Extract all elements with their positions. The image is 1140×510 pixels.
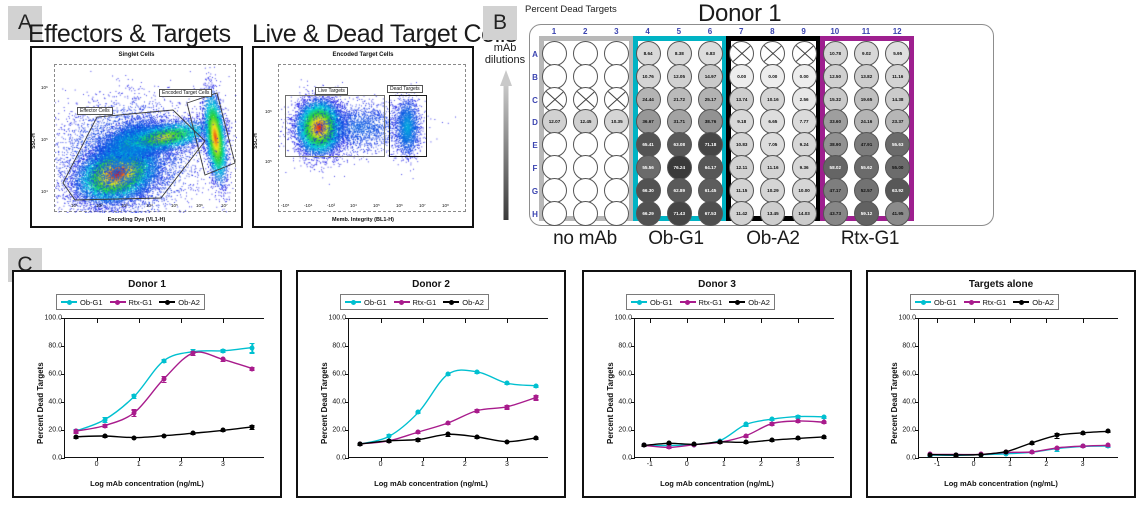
flow-right-xtick: -10⁵ bbox=[281, 203, 289, 208]
chart-ytick-label: 80.0 bbox=[332, 343, 346, 350]
chart-ytick-label: 80.0 bbox=[48, 343, 62, 350]
chart-data-point-ob-a2[interactable] bbox=[927, 452, 932, 457]
legend-swatch bbox=[345, 301, 361, 303]
chart-data-point-ob-g1[interactable] bbox=[445, 372, 450, 377]
gate-label-dead-targets: Dead Targets bbox=[387, 85, 423, 93]
plate-well-H9[interactable]: 14.03 bbox=[792, 201, 817, 226]
plate-well-B1[interactable] bbox=[542, 64, 567, 89]
chart-data-point-rtx-g1[interactable] bbox=[445, 421, 450, 426]
legend-label: Ob-G1 bbox=[934, 298, 957, 307]
chart-data-point-rtx-g1[interactable] bbox=[1106, 443, 1111, 448]
legend-item-ob-a2[interactable]: Ob-A2 bbox=[1013, 298, 1054, 307]
chart-ylabel: Percent Dead Targets bbox=[320, 362, 329, 444]
plate-well-A5[interactable]: 8.38 bbox=[667, 41, 692, 66]
plate-well-A7[interactable] bbox=[729, 41, 754, 66]
plate-well-C7[interactable]: 13.74 bbox=[729, 87, 754, 112]
chart-data-point-rtx-g1[interactable] bbox=[132, 410, 137, 415]
chart-ytick-mark bbox=[345, 374, 349, 375]
plate-well-H6[interactable]: 67.53 bbox=[698, 201, 723, 226]
plate-well-C1[interactable] bbox=[542, 87, 567, 112]
chart-error-cap bbox=[161, 382, 166, 383]
plate-col-header-7: 7 bbox=[732, 27, 750, 36]
plate-well-G10[interactable]: 47.17 bbox=[823, 178, 848, 203]
plate-well-G11[interactable]: 52.57 bbox=[854, 178, 879, 203]
chart-data-point-ob-a2[interactable] bbox=[161, 433, 166, 438]
chart-xtick-mark bbox=[97, 457, 98, 461]
plate-well-B7[interactable]: 0.00 bbox=[729, 64, 754, 89]
chart-ytick-mark bbox=[345, 346, 349, 347]
chart-xtick-label: 1 bbox=[722, 461, 726, 468]
plate-well-B9[interactable]: 0.00 bbox=[792, 64, 817, 89]
chart-xtick-label: 1 bbox=[1008, 461, 1012, 468]
flow-plot-left-xlabel: Encoding Dye (VL1-H) bbox=[32, 217, 241, 223]
chart-xtick-mark bbox=[974, 457, 975, 461]
plate-well-H5[interactable]: 71.43 bbox=[667, 201, 692, 226]
plate-well-F10[interactable]: 58.02 bbox=[823, 155, 848, 180]
chart-data-point-ob-a2[interactable] bbox=[504, 439, 509, 444]
legend-label: Ob-G1 bbox=[80, 298, 103, 307]
flow-left-xtick: 10⁵ bbox=[171, 203, 178, 208]
chart-data-point-ob-a2[interactable] bbox=[795, 436, 800, 441]
chart-xtick-mark bbox=[381, 457, 382, 461]
chart-data-point-ob-a2[interactable] bbox=[132, 435, 137, 440]
plate-well-B12[interactable]: 11.16 bbox=[885, 64, 910, 89]
chart-xtick-label: 0 bbox=[95, 461, 99, 468]
chart-data-point-ob-g1[interactable] bbox=[504, 381, 509, 386]
chart-top-rule bbox=[635, 318, 834, 319]
flow-right-xtick: 10⁶ bbox=[396, 203, 403, 208]
chart-legend: Ob-G1Rtx-G1Ob-A2 bbox=[910, 294, 1059, 310]
chart-plot-area: 0.020.040.060.080.0100.0-10123 bbox=[918, 318, 1118, 458]
chart-donor-2: Donor 2Ob-G1Rtx-G1Ob-A2Percent Dead Targ… bbox=[296, 270, 566, 498]
plate-well-H4[interactable]: 66.29 bbox=[636, 201, 661, 226]
chart-data-point-ob-a2[interactable] bbox=[667, 441, 672, 446]
legend-swatch bbox=[915, 301, 931, 303]
plate-well-F11[interactable]: 55.62 bbox=[854, 155, 879, 180]
flow-plot-right-ylabel: SSC-H bbox=[253, 133, 259, 149]
flow-right-ytick: 10⁶ bbox=[265, 109, 272, 114]
chart-ytick-label: 80.0 bbox=[618, 343, 632, 350]
chart-data-point-ob-a2[interactable] bbox=[445, 432, 450, 437]
plate-well-G2[interactable] bbox=[573, 178, 598, 203]
chart-xtick-mark bbox=[724, 457, 725, 461]
plate-well-A8[interactable] bbox=[760, 41, 785, 66]
legend-swatch bbox=[964, 301, 980, 303]
plate-well-H7[interactable]: 11.42 bbox=[729, 201, 754, 226]
legend-label: Rtx-G1 bbox=[983, 298, 1007, 307]
chart-error-cap bbox=[250, 343, 255, 344]
plate-well-G7[interactable]: 11.15 bbox=[729, 178, 754, 203]
plate-col-header-1: 1 bbox=[545, 27, 563, 36]
chart-data-point-ob-a2[interactable] bbox=[744, 440, 749, 445]
chart-ytick-mark bbox=[631, 374, 635, 375]
chart-ytick-label: 60.0 bbox=[332, 371, 346, 378]
chart-title: Donor 2 bbox=[298, 279, 564, 290]
plate-well-H10[interactable]: 43.73 bbox=[823, 201, 848, 226]
chart-ylabel: Percent Dead Targets bbox=[890, 362, 899, 444]
flow-left-xtick: 10¹ bbox=[71, 203, 78, 208]
plate-col-header-11: 11 bbox=[857, 27, 875, 36]
plate-well-G9[interactable]: 10.00 bbox=[792, 178, 817, 203]
chart-ytick-mark bbox=[61, 458, 65, 459]
chart-xtick-mark bbox=[937, 457, 938, 461]
chart-data-point-rtx-g1[interactable] bbox=[744, 433, 749, 438]
plate-well-G4[interactable]: 66.30 bbox=[636, 178, 661, 203]
legend-item-rtx-g1[interactable]: Rtx-G1 bbox=[964, 298, 1007, 307]
legend-label: Ob-G1 bbox=[364, 298, 387, 307]
chart-ytick-label: 40.0 bbox=[902, 399, 916, 406]
chart-ytick-label: 100.0 bbox=[614, 315, 632, 322]
mab-dilutions-label: mAb dilutions bbox=[478, 42, 532, 66]
plate-group-label-no-mab: no mAb bbox=[535, 228, 635, 250]
chart-xlabel: Log mAb concentration (ng/mL) bbox=[584, 479, 850, 488]
chart-xtick-label: 2 bbox=[1044, 461, 1048, 468]
flow-plot-left-ylabel: SSC-H bbox=[31, 133, 37, 149]
chart-ytick-label: 60.0 bbox=[618, 371, 632, 378]
flow-right-xtick: 10⁸ bbox=[442, 203, 449, 208]
chart-ytick-label: 40.0 bbox=[48, 399, 62, 406]
plate-well-A9[interactable] bbox=[792, 41, 817, 66]
chart-data-point-rtx-g1[interactable] bbox=[534, 395, 539, 400]
plate-well-B4[interactable]: 10.76 bbox=[636, 64, 661, 89]
chart-xtick-label: 2 bbox=[463, 461, 467, 468]
plate-well-H2[interactable] bbox=[573, 201, 598, 226]
plate-well-F1[interactable] bbox=[542, 155, 567, 180]
chart-data-point-ob-a2[interactable] bbox=[250, 424, 255, 429]
gate-label-effector-cells: Effector Cells bbox=[77, 107, 113, 115]
chart-xtick-label: 1 bbox=[137, 461, 141, 468]
chart-ytick-mark bbox=[631, 402, 635, 403]
chart-data-point-ob-g1[interactable] bbox=[475, 369, 480, 374]
chart-error-cap bbox=[132, 416, 137, 417]
chart-xtick-mark bbox=[687, 457, 688, 461]
plate-col-header-4: 4 bbox=[639, 27, 657, 36]
chart-data-point-ob-g1[interactable] bbox=[220, 348, 225, 353]
chart-ytick-label: 100.0 bbox=[328, 315, 346, 322]
plate-well-A6[interactable]: 6.83 bbox=[698, 41, 723, 66]
flow-left-xtick: 10³ bbox=[121, 203, 128, 208]
chart-data-point-ob-a2[interactable] bbox=[1029, 440, 1034, 445]
plate-group-label-rtx-g1: Rtx-G1 bbox=[820, 228, 920, 250]
plate-group-label-ob-a2: Ob-A2 bbox=[723, 228, 823, 250]
panel-b-letter: B bbox=[483, 6, 517, 40]
chart-xtick-label: 0 bbox=[685, 461, 689, 468]
plate-well-H3[interactable] bbox=[604, 201, 629, 226]
chart-data-point-ob-a2[interactable] bbox=[74, 434, 79, 439]
gate-box-live-targets bbox=[285, 95, 385, 157]
flow-left-xtick: 10⁷ bbox=[221, 203, 228, 208]
chart-ytick-mark bbox=[915, 458, 919, 459]
chart-ytick-label: 40.0 bbox=[332, 399, 346, 406]
chart-legend: Ob-G1Rtx-G1Ob-A2 bbox=[56, 294, 205, 310]
legend-swatch bbox=[110, 301, 126, 303]
chart-plot-area: 0.020.040.060.080.0100.0-10123 bbox=[634, 318, 834, 458]
legend-item-ob-g1[interactable]: Ob-G1 bbox=[915, 298, 957, 307]
plate-well-C3[interactable] bbox=[604, 87, 629, 112]
plate-well-B2[interactable] bbox=[573, 64, 598, 89]
legend-item-ob-g1[interactable]: Ob-G1 bbox=[631, 298, 673, 307]
chart-ytick-label: 100.0 bbox=[898, 315, 916, 322]
chart-data-point-rtx-g1[interactable] bbox=[770, 421, 775, 426]
legend-item-ob-a2[interactable]: Ob-A2 bbox=[729, 298, 770, 307]
plate-well-E5[interactable]: 63.08 bbox=[667, 132, 692, 157]
chart-xtick-label: 0 bbox=[379, 461, 383, 468]
plate-well-H12[interactable]: 41.95 bbox=[885, 201, 910, 226]
chart-data-point-ob-g1[interactable] bbox=[534, 383, 539, 388]
up-arrow-gradient-icon bbox=[500, 70, 512, 220]
chart-ytick-mark bbox=[631, 458, 635, 459]
flow-plot-right-xlabel: Memb. Integrity (BL1-H) bbox=[254, 217, 472, 223]
legend-label: Ob-A2 bbox=[178, 298, 200, 307]
chart-xtick-mark bbox=[507, 457, 508, 461]
plate-well-A11[interactable]: 9.02 bbox=[854, 41, 879, 66]
flow-plot-left-area: Effector Cells Encoded Target Cells 10¹1… bbox=[54, 64, 236, 212]
chart-ytick-mark bbox=[61, 402, 65, 403]
chart-data-point-ob-g1[interactable] bbox=[250, 345, 255, 350]
chart-top-rule bbox=[919, 318, 1118, 319]
panel-b: B Percent Dead Targets Donor 1 mAb dilut… bbox=[483, 0, 1013, 260]
chart-top-rule bbox=[349, 318, 548, 319]
flow-left-ytick: 10⁵ bbox=[41, 137, 48, 142]
panel-a: A Effectors & Targets Live & Dead Target… bbox=[0, 0, 480, 240]
chart-data-point-ob-a2[interactable] bbox=[1106, 429, 1111, 434]
chart-data-point-ob-a2[interactable] bbox=[103, 434, 108, 439]
chart-data-point-rtx-g1[interactable] bbox=[250, 366, 255, 371]
plate-col-header-6: 6 bbox=[701, 27, 719, 36]
chart-ytick-label: 40.0 bbox=[618, 399, 632, 406]
chart-data-point-ob-g1[interactable] bbox=[821, 414, 826, 419]
plate-well-E9[interactable]: 9.24 bbox=[792, 132, 817, 157]
chart-targets-alone: Targets aloneOb-G1Rtx-G1Ob-A2Percent Dea… bbox=[866, 270, 1136, 498]
plate-well-C11[interactable]: 19.65 bbox=[854, 87, 879, 112]
chart-ytick-mark bbox=[61, 374, 65, 375]
chart-data-point-ob-a2[interactable] bbox=[191, 431, 196, 436]
chart-xtick-mark bbox=[650, 457, 651, 461]
chart-data-point-rtx-g1[interactable] bbox=[416, 429, 421, 434]
plate-well-B5[interactable]: 12.05 bbox=[667, 64, 692, 89]
plate-well-A10[interactable]: 10.78 bbox=[823, 41, 848, 66]
chart-data-point-ob-g1[interactable] bbox=[103, 417, 108, 422]
chart-data-point-ob-a2[interactable] bbox=[692, 442, 697, 447]
chart-data-point-ob-a2[interactable] bbox=[1055, 433, 1060, 438]
legend-label: Ob-A2 bbox=[1032, 298, 1054, 307]
plate-well-G5[interactable]: 62.89 bbox=[667, 178, 692, 203]
chart-error-cap bbox=[250, 352, 255, 353]
plate-well-C4[interactable]: 24.44 bbox=[636, 87, 661, 112]
flow-gates-left bbox=[55, 65, 237, 213]
flow-left-ytick: 10⁶ bbox=[41, 85, 48, 90]
plate-well-F5[interactable]: 76.24 bbox=[667, 155, 692, 180]
chart-xtick-mark bbox=[798, 457, 799, 461]
plate-well-E10[interactable]: 38.90 bbox=[823, 132, 848, 157]
flow-plot-live-dead: Encoded Target Cells SSC-H Memb. Integri… bbox=[252, 46, 474, 228]
plate-well-H8[interactable]: 13.45 bbox=[760, 201, 785, 226]
gate-label-live-targets: Live Targets bbox=[315, 87, 348, 95]
flow-right-xtick: -10⁴ bbox=[304, 203, 312, 208]
chart-title: Donor 1 bbox=[14, 279, 280, 290]
flow-plot-right-area: Live Targets Dead Targets -10⁵-10⁴-10³10… bbox=[278, 64, 466, 212]
chart-xtick-mark bbox=[181, 457, 182, 461]
chart-ytick-mark bbox=[915, 402, 919, 403]
chart-ytick-label: 60.0 bbox=[902, 371, 916, 378]
plate-well-C2[interactable] bbox=[573, 87, 598, 112]
plate-col-header-10: 10 bbox=[826, 27, 844, 36]
chart-ytick-label: 20.0 bbox=[902, 427, 916, 434]
plate-well-D9[interactable]: 7.77 bbox=[792, 109, 817, 134]
chart-data-point-ob-a2[interactable] bbox=[821, 434, 826, 439]
plate-well-F6[interactable]: 64.17 bbox=[698, 155, 723, 180]
chart-data-point-rtx-g1[interactable] bbox=[1055, 445, 1060, 450]
chart-xlabel: Log mAb concentration (ng/mL) bbox=[868, 479, 1134, 488]
chart-data-point-rtx-g1[interactable] bbox=[191, 350, 196, 355]
legend-label: Ob-A2 bbox=[462, 298, 484, 307]
chart-data-point-rtx-g1[interactable] bbox=[504, 404, 509, 409]
chart-data-point-ob-a2[interactable] bbox=[954, 452, 959, 457]
plate-well-B11[interactable]: 13.82 bbox=[854, 64, 879, 89]
plate-well-C8[interactable]: 10.16 bbox=[760, 87, 785, 112]
microplate: 123456789101112 ABCDEFGH 8.648.386.8310.… bbox=[529, 24, 994, 226]
plate-well-B6[interactable]: 14.97 bbox=[698, 64, 723, 89]
chart-xlabel: Log mAb concentration (ng/mL) bbox=[298, 479, 564, 488]
plate-col-header-3: 3 bbox=[607, 27, 625, 36]
plate-well-B10[interactable]: 12.50 bbox=[823, 64, 848, 89]
chart-data-point-rtx-g1[interactable] bbox=[220, 357, 225, 362]
plate-well-A4[interactable]: 8.64 bbox=[636, 41, 661, 66]
flow-left-xtick: 10⁶ bbox=[196, 203, 203, 208]
chart-top-rule bbox=[65, 318, 264, 319]
mab-dilutions-line1: mAb bbox=[494, 42, 517, 54]
chart-ytick-label: 60.0 bbox=[48, 371, 62, 378]
chart-data-point-ob-g1[interactable] bbox=[416, 410, 421, 415]
plate-well-G1[interactable] bbox=[542, 178, 567, 203]
chart-data-point-ob-a2[interactable] bbox=[475, 435, 480, 440]
plate-well-H11[interactable]: 59.12 bbox=[854, 201, 879, 226]
chart-data-point-ob-a2[interactable] bbox=[220, 428, 225, 433]
chart-xtick-mark bbox=[465, 457, 466, 461]
legend-swatch bbox=[443, 301, 459, 303]
legend-label: Ob-G1 bbox=[650, 298, 673, 307]
chart-xtick-label: 1 bbox=[421, 461, 425, 468]
plate-well-E4[interactable]: 65.41 bbox=[636, 132, 661, 157]
chart-data-point-ob-a2[interactable] bbox=[1004, 449, 1009, 454]
chart-ylabel: Percent Dead Targets bbox=[606, 362, 615, 444]
legend-item-rtx-g1[interactable]: Rtx-G1 bbox=[110, 298, 153, 307]
chart-ytick-mark bbox=[915, 430, 919, 431]
plate-well-C9[interactable]: 2.56 bbox=[792, 87, 817, 112]
chart-xtick-mark bbox=[761, 457, 762, 461]
mab-dilutions-line2: dilutions bbox=[485, 54, 525, 66]
chart-xtick-label: 2 bbox=[179, 461, 183, 468]
chart-ytick-mark bbox=[915, 346, 919, 347]
chart-data-point-ob-g1[interactable] bbox=[161, 358, 166, 363]
legend-item-rtx-g1[interactable]: Rtx-G1 bbox=[394, 298, 437, 307]
chart-data-point-ob-a2[interactable] bbox=[387, 438, 392, 443]
chart-data-point-ob-a2[interactable] bbox=[358, 442, 363, 447]
plate-well-H1[interactable] bbox=[542, 201, 567, 226]
chart-donor-1: Donor 1Ob-G1Rtx-G1Ob-A2Percent Dead Targ… bbox=[12, 270, 282, 498]
legend-item-ob-a2[interactable]: Ob-A2 bbox=[443, 298, 484, 307]
chart-data-point-rtx-g1[interactable] bbox=[795, 419, 800, 424]
chart-ytick-mark bbox=[345, 402, 349, 403]
chart-data-point-ob-g1[interactable] bbox=[744, 422, 749, 427]
legend-item-ob-g1[interactable]: Ob-G1 bbox=[345, 298, 387, 307]
chart-ylabel: Percent Dead Targets bbox=[36, 362, 45, 444]
gate-box-dead-targets bbox=[389, 95, 427, 157]
flow-right-xtick: 10⁵ bbox=[373, 203, 380, 208]
chart-data-point-ob-a2[interactable] bbox=[770, 438, 775, 443]
legend-item-ob-g1[interactable]: Ob-G1 bbox=[61, 298, 103, 307]
chart-data-point-ob-a2[interactable] bbox=[978, 452, 983, 457]
plate-well-C6[interactable]: 25.17 bbox=[698, 87, 723, 112]
plate-well-C12[interactable]: 14.38 bbox=[885, 87, 910, 112]
chart-xtick-label: 3 bbox=[505, 461, 509, 468]
chart-data-point-rtx-g1[interactable] bbox=[74, 428, 79, 433]
legend-label: Ob-A2 bbox=[748, 298, 770, 307]
chart-plot-area: 0.020.040.060.080.0100.00123 bbox=[348, 318, 548, 458]
chart-ytick-label: 20.0 bbox=[48, 427, 62, 434]
legend-label: Rtx-G1 bbox=[699, 298, 723, 307]
plate-well-C5[interactable]: 21.72 bbox=[667, 87, 692, 112]
flow-left-xtick: 10² bbox=[96, 203, 103, 208]
plate-col-header-12: 12 bbox=[888, 27, 906, 36]
chart-data-point-ob-g1[interactable] bbox=[132, 394, 137, 399]
flow-left-ytick: 10⁴ bbox=[41, 189, 48, 194]
legend-swatch bbox=[631, 301, 647, 303]
chart-legend: Ob-G1Rtx-G1Ob-A2 bbox=[626, 294, 775, 310]
flow-plot-left-header: Singlet Cells bbox=[32, 52, 241, 58]
chart-data-point-rtx-g1[interactable] bbox=[161, 376, 166, 381]
plate-well-G6[interactable]: 61.45 bbox=[698, 178, 723, 203]
chart-ytick-mark bbox=[345, 458, 349, 459]
chart-xtick-label: 0 bbox=[972, 461, 976, 468]
chart-data-point-ob-a2[interactable] bbox=[534, 435, 539, 440]
chart-data-point-rtx-g1[interactable] bbox=[1080, 444, 1085, 449]
chart-data-point-ob-a2[interactable] bbox=[642, 443, 647, 448]
chart-ytick-mark bbox=[631, 430, 635, 431]
legend-swatch bbox=[729, 301, 745, 303]
chart-title: Donor 3 bbox=[584, 279, 850, 290]
chart-data-point-ob-a2[interactable] bbox=[416, 437, 421, 442]
panel-a-title-left: Effectors & Targets bbox=[28, 20, 231, 49]
plate-well-A1[interactable] bbox=[542, 41, 567, 66]
chart-ytick-label: 80.0 bbox=[902, 343, 916, 350]
percent-dead-targets-label: Percent Dead Targets bbox=[525, 4, 617, 15]
chart-data-point-ob-a2[interactable] bbox=[1080, 430, 1085, 435]
plate-well-F4[interactable]: 55.56 bbox=[636, 155, 661, 180]
flow-right-ytick: 10⁵ bbox=[265, 159, 272, 164]
legend-item-ob-a2[interactable]: Ob-A2 bbox=[159, 298, 200, 307]
chart-data-point-rtx-g1[interactable] bbox=[821, 420, 826, 425]
chart-xtick-mark bbox=[139, 457, 140, 461]
plate-well-G12[interactable]: 63.92 bbox=[885, 178, 910, 203]
chart-xtick-label: 2 bbox=[759, 461, 763, 468]
plate-well-C10[interactable]: 15.32 bbox=[823, 87, 848, 112]
chart-xtick-mark bbox=[223, 457, 224, 461]
chart-ytick-mark bbox=[61, 430, 65, 431]
plate-well-D4[interactable]: 36.67 bbox=[636, 109, 661, 134]
chart-ytick-mark bbox=[61, 346, 65, 347]
chart-data-point-ob-a2[interactable] bbox=[718, 440, 723, 445]
chart-ytick-label: 20.0 bbox=[332, 427, 346, 434]
legend-label: Rtx-G1 bbox=[413, 298, 437, 307]
chart-data-point-rtx-g1[interactable] bbox=[103, 423, 108, 428]
chart-ytick-mark bbox=[345, 430, 349, 431]
flow-right-xtick: 10⁷ bbox=[419, 203, 426, 208]
chart-data-point-rtx-g1[interactable] bbox=[1029, 449, 1034, 454]
chart-data-point-rtx-g1[interactable] bbox=[475, 408, 480, 413]
plate-well-F9[interactable]: 9.36 bbox=[792, 155, 817, 180]
legend-item-rtx-g1[interactable]: Rtx-G1 bbox=[680, 298, 723, 307]
